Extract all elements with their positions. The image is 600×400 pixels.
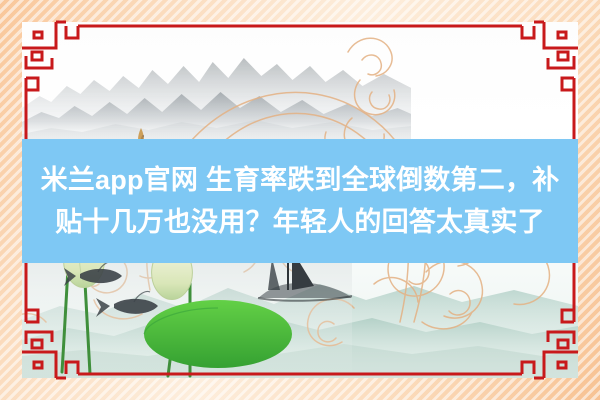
poster-canvas: 米兰app官网 生育率跌到全球倒数第二，补贴十几万也没用？年轻人的回答太真实了 xyxy=(0,0,600,400)
headline-band: 米兰app官网 生育率跌到全球倒数第二，补贴十几万也没用？年轻人的回答太真实了 xyxy=(22,139,578,263)
ink-mountain-range-icon xyxy=(22,36,411,146)
page-title: 米兰app官网 生育率跌到全球倒数第二，补贴十几万也没用？年轻人的回答太真实了 xyxy=(22,159,578,243)
